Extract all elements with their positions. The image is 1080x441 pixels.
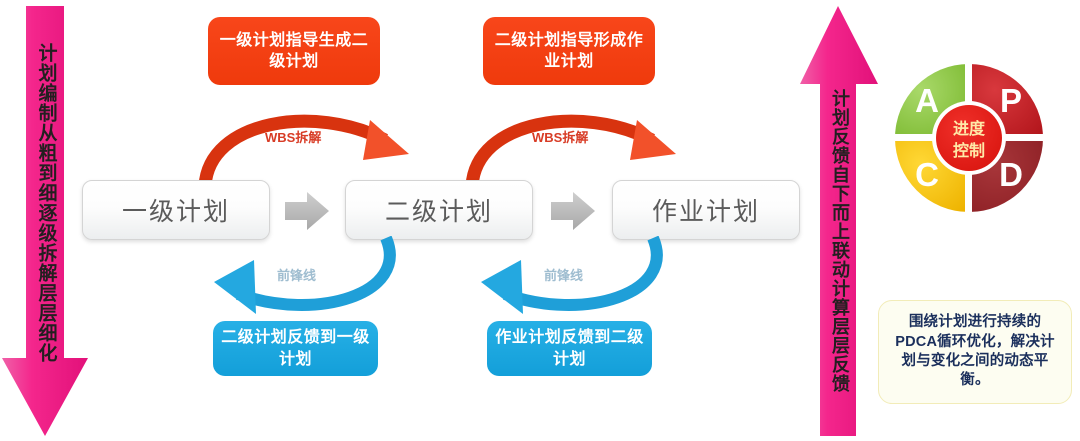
- diagram-canvas: 计划编制从粗到细逐级拆解层层细化 计划反馈自下而上联动计算层层反馈 一级计划指导…: [0, 0, 1080, 441]
- plan-box-level-2[interactable]: 二级计划: [345, 180, 533, 240]
- pdca-letter-a: A: [915, 82, 939, 119]
- pdca-wheel-icon: A P C D 进度 控制: [886, 52, 1052, 224]
- feedback-label-1: 前锋线: [277, 265, 316, 284]
- left-down-arrow: 计划编制从粗到细逐级拆解层层细化: [2, 6, 90, 438]
- plan-box-level-1-label: 一级计划: [122, 192, 230, 228]
- pdca-center-line-2: 控制: [953, 141, 985, 160]
- plan-box-level-2-label: 二级计划: [385, 192, 493, 228]
- step-arrow-icon-2: [549, 190, 597, 232]
- summary-note-text: 围绕计划进行持续的PDCA循环优化，解决计划与变化之间的动态平衡。: [888, 313, 1062, 391]
- callout-blue-2-label: 作业计划反馈到二级计划: [495, 327, 644, 369]
- callout-red-1-label: 一级计划指导生成二级计划: [216, 30, 372, 72]
- callout-blue-2[interactable]: 作业计划反馈到二级计划: [487, 321, 652, 376]
- pdca-letter-p: P: [1000, 82, 1022, 119]
- plan-box-level-3[interactable]: 作业计划: [612, 180, 800, 240]
- right-arrow-label: 计划反馈自下而上联动计算层层反馈: [831, 89, 849, 393]
- callout-red-2[interactable]: 二级计划指导形成作业计划: [483, 17, 655, 85]
- pdca-center-line-1: 进度: [953, 119, 986, 138]
- plan-box-level-3-label: 作业计划: [652, 192, 760, 228]
- summary-note-box: 围绕计划进行持续的PDCA循环优化，解决计划与变化之间的动态平衡。: [878, 300, 1072, 404]
- callout-blue-1[interactable]: 二级计划反馈到一级计划: [213, 321, 378, 376]
- decompose-label-1: WBS拆解: [265, 127, 321, 146]
- pdca-letter-d: D: [999, 156, 1023, 193]
- callout-blue-1-label: 二级计划反馈到一级计划: [221, 327, 370, 369]
- feedback-label-2: 前锋线: [544, 265, 583, 284]
- decompose-label-2: WBS拆解: [532, 127, 588, 146]
- step-arrow-icon-1: [283, 190, 331, 232]
- callout-red-1[interactable]: 一级计划指导生成二级计划: [208, 17, 380, 85]
- right-up-arrow: 计划反馈自下而上联动计算层层反馈: [800, 4, 880, 438]
- plan-box-level-1[interactable]: 一级计划: [82, 180, 270, 240]
- pdca-letter-c: C: [915, 156, 939, 193]
- left-arrow-label: 计划编制从粗到细逐级拆解层层细化: [37, 43, 56, 363]
- callout-red-2-label: 二级计划指导形成作业计划: [491, 30, 647, 72]
